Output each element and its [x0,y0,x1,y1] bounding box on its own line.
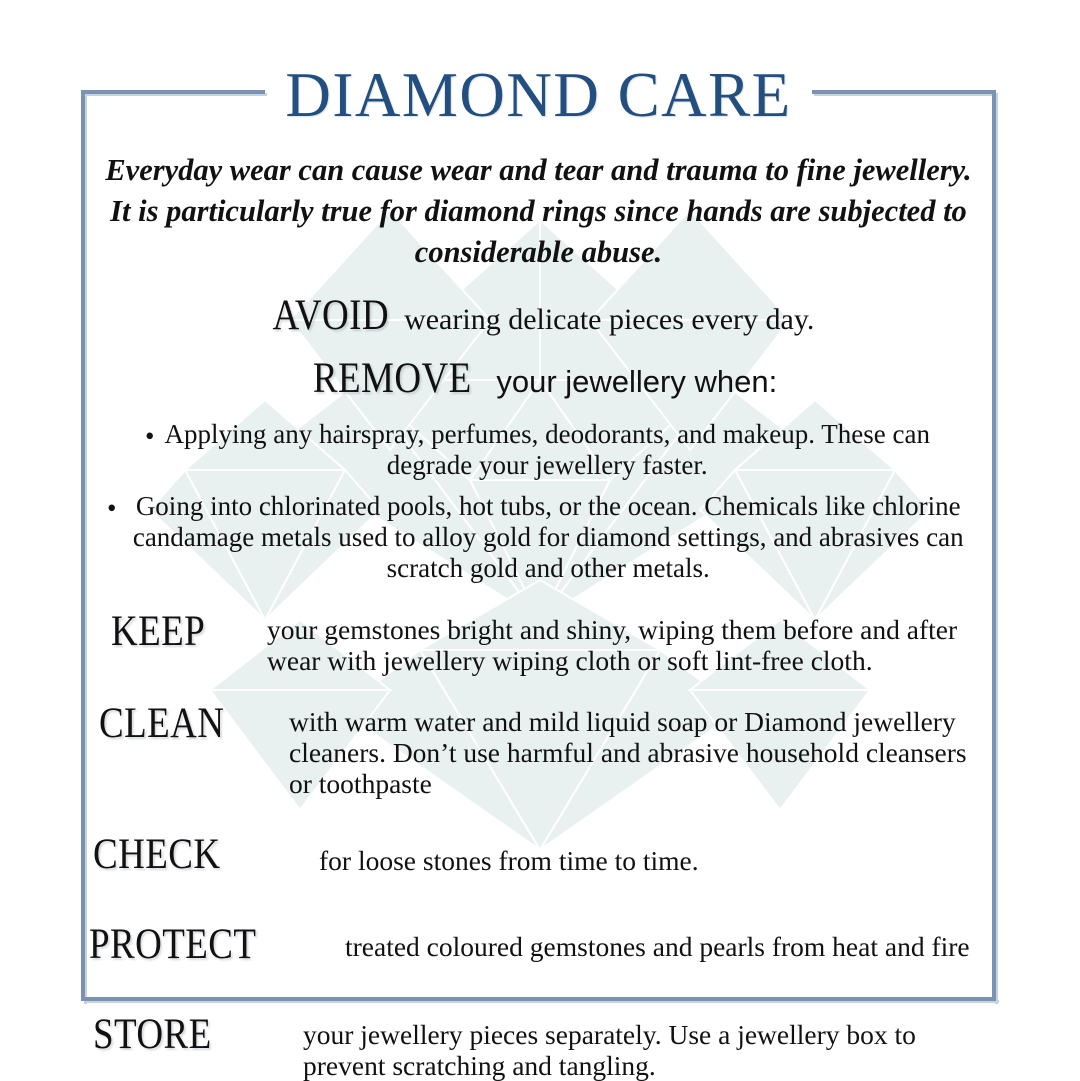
clean-keyword: CLEAN [99,702,259,746]
frame-rule-right [992,90,996,1001]
care-step-check: CHECK for loose stones from time to time… [85,833,992,877]
list-item-text: Applying any hairspray, perfumes, deodor… [160,419,992,481]
avoid-keyword: AVOID [272,291,389,340]
intro-paragraph: Everyday wear can cause wear and tear an… [85,150,992,273]
clean-description: with warm water and mild liquid soap or … [289,702,992,799]
check-keyword: CHECK [93,833,270,877]
list-item: • Applying any hairspray, perfumes, deod… [85,419,992,481]
list-item: • Going into chlorinated pools, hot tubs… [85,491,992,584]
page-title: DIAMOND CARE [271,60,805,130]
title-row: DIAMOND CARE [85,60,992,130]
avoid-description: wearing delicate pieces every day. [404,303,814,336]
store-description: your jewellery pieces separately. Use a … [303,1013,992,1081]
remove-line: REMOVEyour jewellery when: [85,354,992,403]
poster-content: DIAMOND CARE Everyday wear can cause wea… [85,60,992,1081]
check-description: for loose stones from time to time. [319,833,992,876]
remove-keyword: REMOVE [313,354,472,403]
care-step-keep: KEEP your gemstones bright and shiny, wi… [85,610,992,676]
keep-description: your gemstones bright and shiny, wiping … [267,610,992,676]
bullet-marker-icon: • [107,491,116,524]
keep-keyword: KEEP [111,610,240,654]
protect-description: treated coloured gemstones and pearls fr… [345,923,992,962]
care-step-clean: CLEAN with warm water and mild liquid so… [85,702,992,799]
avoid-line: AVOIDwearing delicate pieces every day. [85,291,992,340]
remove-description: your jewellery when: [496,364,777,399]
care-step-protect: PROTECT treated coloured gemstones and p… [85,923,992,967]
diamond-care-poster: DIAMOND CARE Everyday wear can cause wea… [0,0,1080,1080]
bullet-marker-icon: • [145,419,154,452]
list-item-text: Going into chlorinated pools, hot tubs, … [122,491,992,584]
remove-bullet-list: • Applying any hairspray, perfumes, deod… [85,419,992,584]
care-step-store: STORE your jewellery pieces separately. … [85,1013,992,1081]
store-keyword: STORE [93,1013,262,1057]
protect-keyword: PROTECT [89,923,301,967]
